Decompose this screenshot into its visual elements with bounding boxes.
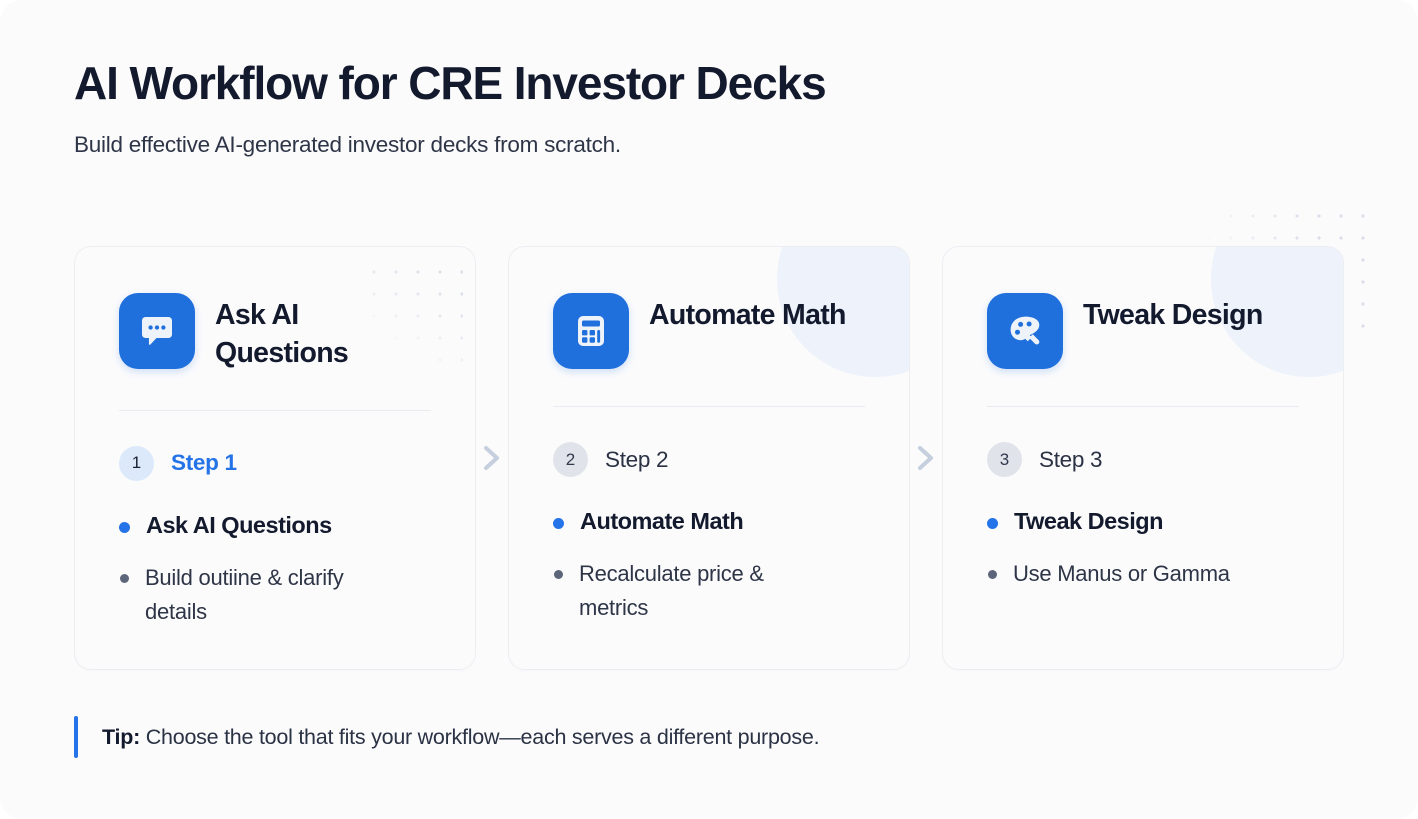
bullet-dot-icon — [120, 574, 129, 583]
bullet-dot-icon — [554, 570, 563, 579]
chevron-right-icon — [910, 246, 942, 670]
bullet-primary-text: Tweak Design — [1014, 507, 1163, 536]
chat-bubble-icon — [119, 293, 195, 369]
step-number-badge: 2 — [553, 442, 588, 477]
card-bullet-list: Automate Math Recalculate price & metric… — [553, 507, 865, 626]
list-item: Recalculate price & metrics — [553, 557, 865, 625]
tip-body: Choose the tool that fits your workflow—… — [146, 725, 820, 749]
tip-callout: Tip: Choose the tool that fits your work… — [74, 716, 819, 758]
tip-accent-bar — [74, 716, 78, 758]
page-header: AI Workflow for CRE Investor Decks Build… — [74, 58, 1344, 158]
workflow-steps: Ask AI Questions 1 Step 1 Ask AI Questio… — [74, 246, 1344, 670]
chevron-right-icon — [476, 246, 508, 670]
list-item: Automate Math — [553, 507, 865, 536]
step-label: Step 3 — [1039, 447, 1102, 473]
card-divider — [987, 406, 1299, 407]
card-divider — [119, 410, 431, 411]
list-item: Build outiine & clarify details — [119, 561, 431, 629]
bullet-dot-icon — [119, 522, 130, 533]
card-bullet-list: Tweak Design Use Manus or Gamma — [987, 507, 1299, 591]
list-item: Ask AI Questions — [119, 511, 431, 540]
card-header: Tweak Design — [987, 293, 1299, 369]
card-header: Ask AI Questions — [119, 293, 431, 373]
palette-icon — [987, 293, 1063, 369]
step-indicator: 1 Step 1 — [119, 446, 431, 481]
step-number-badge: 3 — [987, 442, 1022, 477]
step-label: Step 1 — [171, 450, 237, 476]
bullet-secondary-text: Recalculate price & metrics — [579, 557, 819, 625]
step-card-automate-math[interactable]: Automate Math 2 Step 2 Automate Math Rec… — [508, 246, 910, 670]
page-subtitle: Build effective AI-generated investor de… — [74, 132, 1344, 158]
card-bullet-list: Ask AI Questions Build outiine & clarify… — [119, 511, 431, 630]
list-item: Tweak Design — [987, 507, 1299, 536]
step-indicator: 3 Step 3 — [987, 442, 1299, 477]
page-root: AI Workflow for CRE Investor Decks Build… — [0, 0, 1418, 819]
bullet-dot-icon — [988, 570, 997, 579]
bullet-secondary-text: Use Manus or Gamma — [1013, 557, 1230, 591]
tip-text: Tip: Choose the tool that fits your work… — [102, 725, 819, 750]
calculator-icon — [553, 293, 629, 369]
card-title: Automate Math — [649, 293, 846, 335]
step-card-tweak-design[interactable]: Tweak Design 3 Step 3 Tweak Design Use M… — [942, 246, 1344, 670]
bullet-dot-icon — [987, 518, 998, 529]
bullet-dot-icon — [553, 518, 564, 529]
card-divider — [553, 406, 865, 407]
step-number-badge: 1 — [119, 446, 154, 481]
step-indicator: 2 Step 2 — [553, 442, 865, 477]
bullet-secondary-text: Build outiine & clarify details — [145, 561, 385, 629]
card-header: Automate Math — [553, 293, 865, 369]
step-label: Step 2 — [605, 447, 668, 473]
list-item: Use Manus or Gamma — [987, 557, 1299, 591]
tip-label: Tip: — [102, 725, 140, 749]
bullet-primary-text: Ask AI Questions — [146, 511, 332, 540]
card-title: Ask AI Questions — [215, 293, 431, 373]
step-card-ask-ai-questions[interactable]: Ask AI Questions 1 Step 1 Ask AI Questio… — [74, 246, 476, 670]
card-title: Tweak Design — [1083, 293, 1263, 335]
bullet-primary-text: Automate Math — [580, 507, 743, 536]
page-title: AI Workflow for CRE Investor Decks — [74, 58, 1344, 110]
